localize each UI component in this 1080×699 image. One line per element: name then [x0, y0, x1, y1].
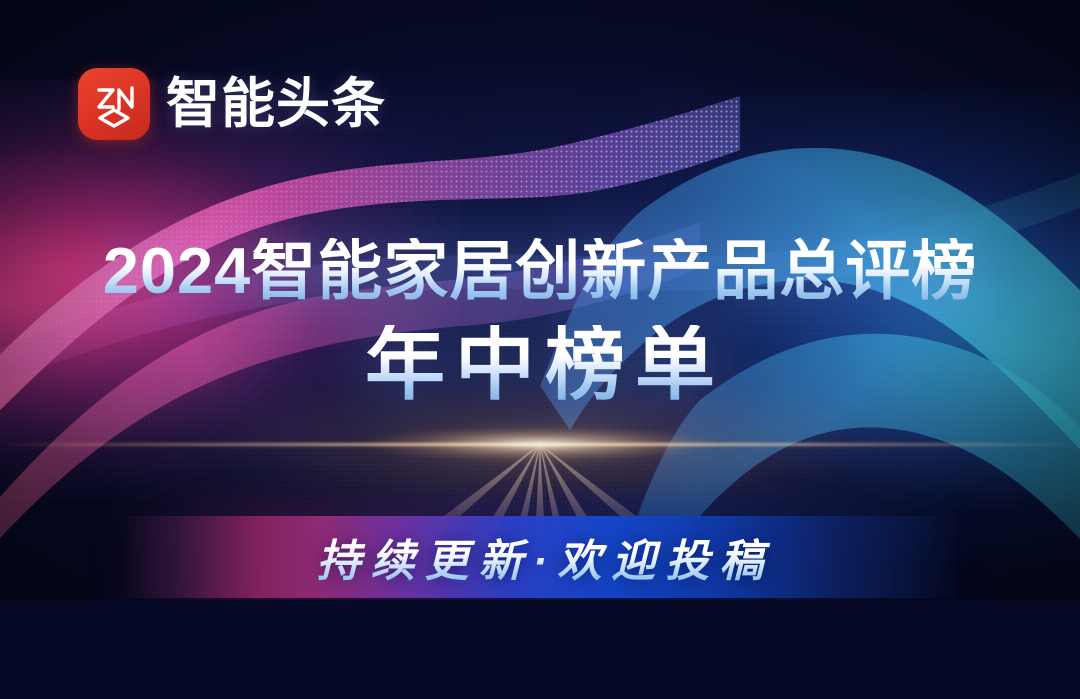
bottom-area: [0, 600, 1080, 699]
ribbon-label: 持续更新·欢迎投稿: [307, 525, 774, 589]
zn-cube-logo-icon: [78, 68, 150, 140]
hero-title-block: 2024智能家居创新产品总评榜 年中榜单: [0, 238, 1080, 405]
call-to-action-ribbon: 持续更新·欢迎投稿: [120, 516, 960, 598]
promo-banner: 智能头条 2024智能家居创新产品总评榜 年中榜单 持续更新·欢迎投稿: [0, 0, 1080, 699]
brand-name: 智能头条: [166, 77, 386, 131]
page-subtitle: 年中榜单: [0, 325, 1080, 405]
brand-logo[interactable]: 智能头条: [78, 68, 386, 140]
page-title: 2024智能家居创新产品总评榜: [0, 238, 1080, 303]
flare-core: [360, 427, 720, 461]
